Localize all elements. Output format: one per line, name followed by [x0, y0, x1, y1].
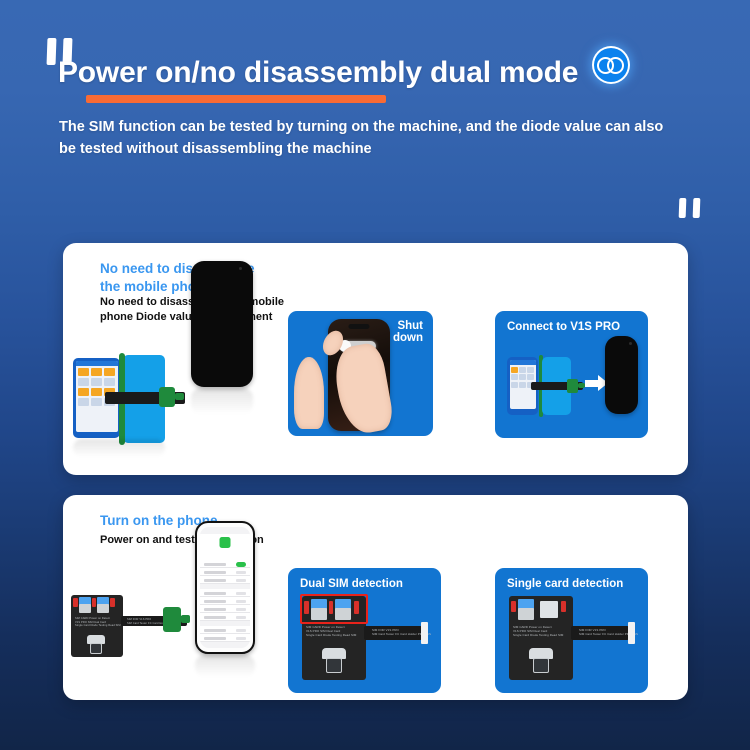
panel-single-card-detection: Single card detection SIM CARD Power on … — [495, 568, 648, 693]
black-phone-front — [191, 261, 253, 387]
board-label-text: SIM CARD Power on Detect V1S PRO SIM Dua… — [75, 617, 121, 628]
single-sim-board: SIM CARD Power on Detect V1S PRO SIM Dua… — [509, 596, 573, 680]
quote-mark-close-icon — [679, 198, 700, 218]
panel-connect-label: Connect to V1S PRO — [507, 321, 620, 333]
panel-shut-down: Shut down — [288, 311, 433, 436]
connector-tip-small — [578, 383, 585, 388]
page-title: Power on/no disassembly dual mode — [58, 56, 578, 90]
flex-gold-tip-2 — [628, 622, 635, 644]
hero-subtitle: The SIM function can be tested by turnin… — [59, 116, 679, 161]
target-phone — [605, 336, 638, 414]
panel-shut-down-label: Shut down — [393, 320, 423, 344]
flex-gold-tip — [421, 622, 428, 644]
panel-connect-v1s-pro: Connect to V1S PRO — [495, 311, 648, 438]
phone-settings-screen — [195, 521, 255, 654]
panel-dual-sim-label: Dual SIM detection — [300, 578, 403, 590]
green-connector-small — [567, 379, 578, 393]
hand-left — [294, 357, 324, 429]
sim-tester-board: SIM CARD Power on Detect V1S PRO SIM Dua… — [71, 595, 123, 657]
card-turn-on-phone: Turn on the phone Power on and test SIM … — [63, 495, 688, 700]
connector-tip — [175, 393, 184, 400]
panel-dual-sim-detection: Dual SIM detection SIM CARD Power on Det… — [288, 568, 441, 693]
single-board-label-text: SIM CARD Power on Detect V1S PRO SIM Dua… — [513, 626, 563, 638]
panel-single-card-label: Single card detection — [507, 578, 623, 590]
green-connector — [159, 387, 175, 407]
title-underline — [86, 95, 386, 103]
green-connector-2 — [163, 607, 181, 632]
connector-tip-2 — [181, 615, 190, 623]
overlapping-circles-logo-icon — [592, 46, 630, 84]
highlight-dual-sim-slots — [300, 594, 368, 624]
dual-board-label-text: SIM CARD Power on Detect V1S PRO SIM Dua… — [306, 626, 356, 638]
hero-title-row: Power on/no disassembly dual mode — [58, 56, 630, 90]
card-no-disassemble: No need to disassemble the mobile phone … — [63, 243, 688, 475]
